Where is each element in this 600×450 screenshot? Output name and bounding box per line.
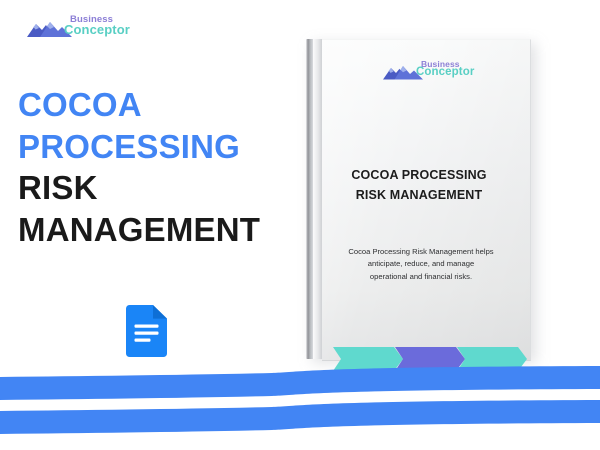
headline-line-4: MANAGEMENT [18, 209, 290, 251]
book-brand-logo: Business Conceptor [382, 58, 474, 84]
book-spine-edge [306, 39, 313, 359]
book-desc-line-2: anticipate, reduce, and manage [336, 258, 506, 270]
book-desc-line-1: Cocoa Processing Risk Management helps [336, 246, 506, 258]
bottom-wave-decoration [0, 355, 600, 450]
book-mockup[interactable]: Business Conceptor COCOA PROCESSING RISK… [306, 39, 530, 359]
headline-line-3: RISK [18, 167, 290, 209]
book-spine-inner [313, 39, 322, 359]
headline-line-2: PROCESSING [18, 126, 290, 168]
page-title: COCOA PROCESSING RISK MANAGEMENT [18, 84, 290, 250]
brand-word-conceptor: Conceptor [416, 66, 474, 78]
headline-line-1: COCOA [18, 84, 290, 126]
poster-canvas: Business Conceptor COCOA PROCESSING RISK… [0, 0, 600, 450]
book-title-line-1: COCOA PROCESSING [324, 165, 514, 185]
header-brand-logo: Business Conceptor [26, 12, 132, 42]
book-desc-line-3: operational and financial risks. [336, 271, 506, 283]
google-docs-icon[interactable] [126, 305, 167, 357]
brand-word-conceptor: Conceptor [64, 22, 130, 37]
book-cover-title: COCOA PROCESSING RISK MANAGEMENT [324, 165, 514, 206]
book-cover-description: Cocoa Processing Risk Management helps a… [336, 246, 506, 283]
book-title-line-2: RISK MANAGEMENT [324, 185, 514, 205]
